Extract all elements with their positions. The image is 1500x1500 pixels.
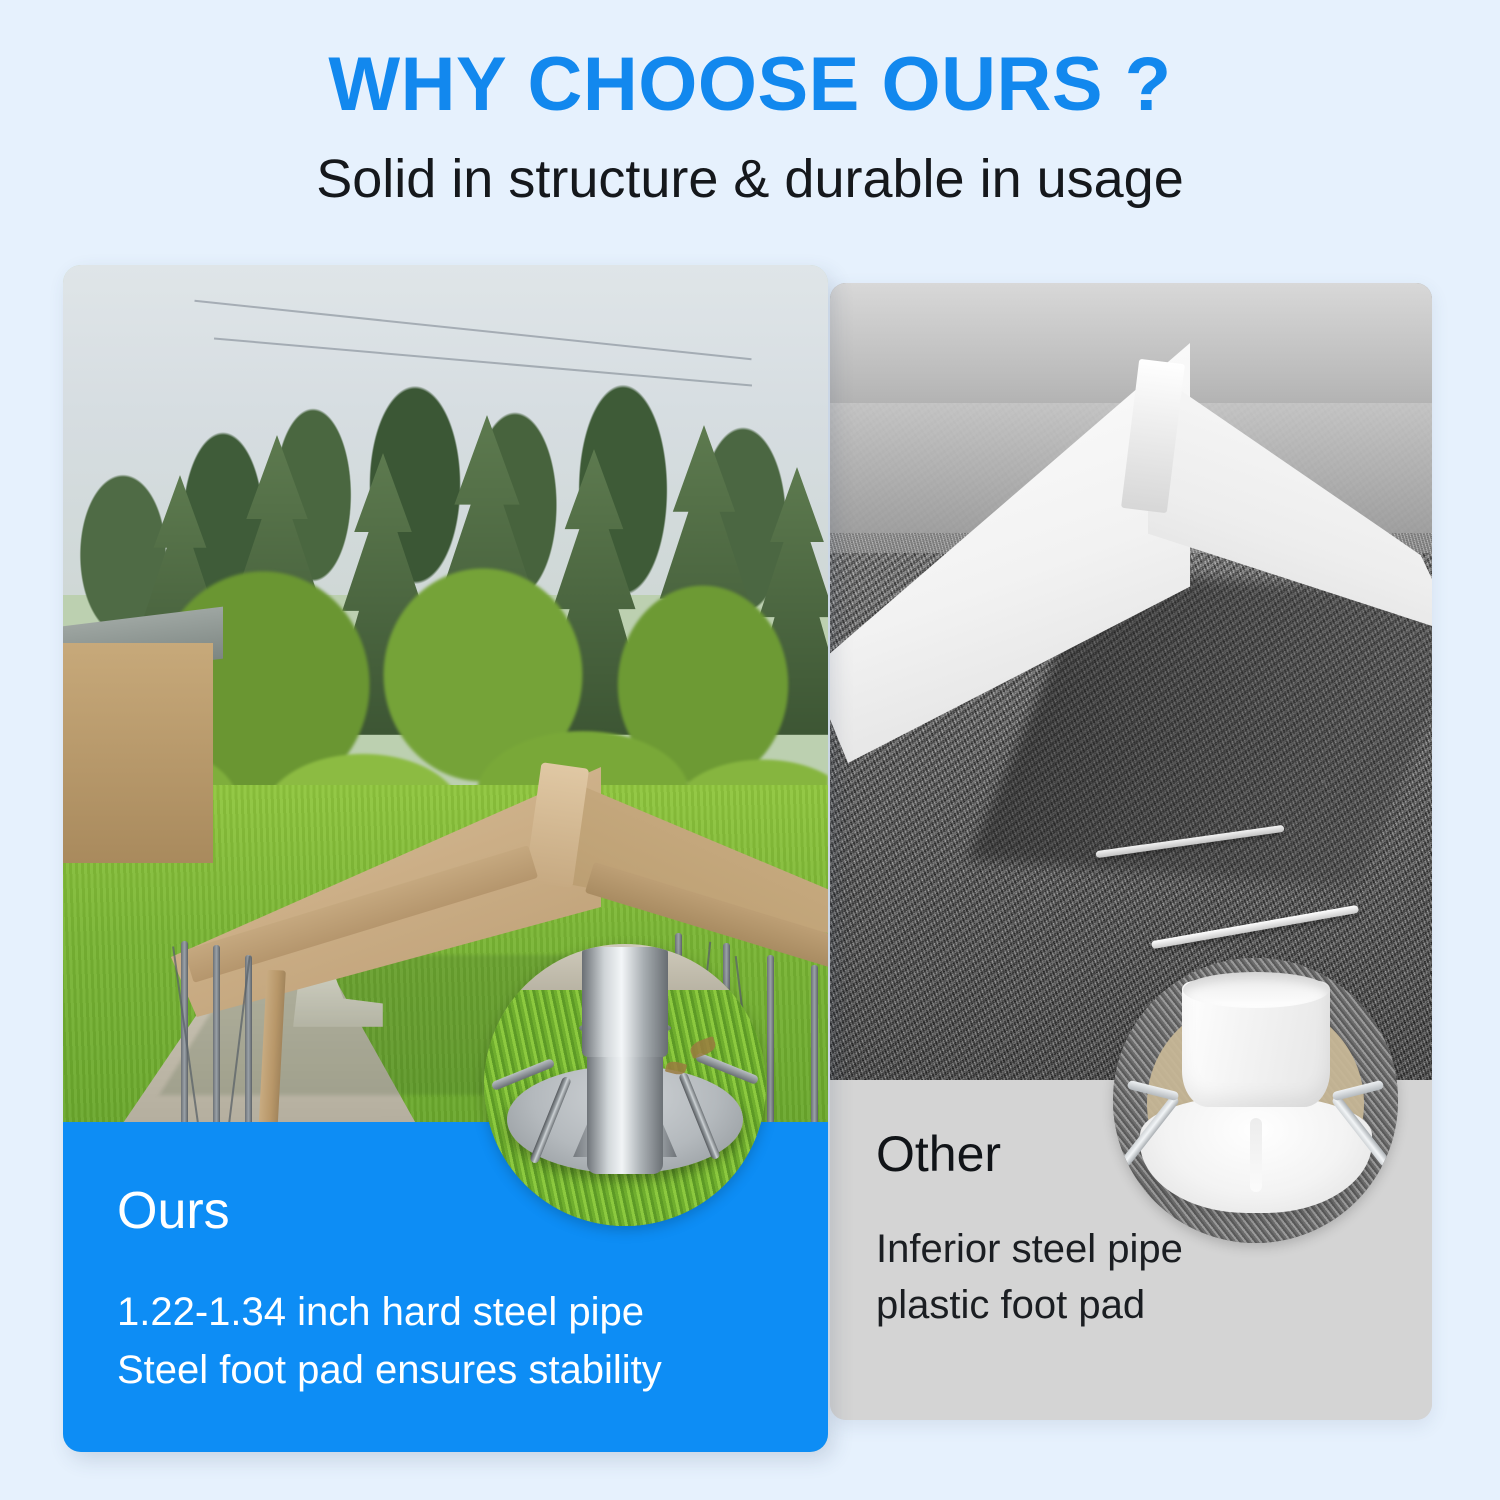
other-inset-collar-rim (1183, 972, 1329, 1008)
other-inset-plastic-rib (1250, 1118, 1262, 1192)
other-card: Other Inferior steel pipe plastic foot p… (830, 283, 1432, 1420)
ours-card: Ours 1.22-1.34 inch hard steel pipe Stee… (63, 265, 828, 1452)
comparison-stage: Other Inferior steel pipe plastic foot p… (0, 0, 1500, 1500)
ours-feature-line-2: Steel foot pad ensures stability (117, 1341, 774, 1399)
ours-features: 1.22-1.34 inch hard steel pipe Steel foo… (117, 1283, 774, 1399)
carport-steel-pole (213, 945, 220, 1122)
carport-steel-pole (811, 965, 818, 1122)
other-feature-line-2: plastic foot pad (876, 1277, 1386, 1334)
ours-footpad-inset (484, 944, 766, 1226)
other-footpad-inset (1113, 958, 1398, 1243)
ours-inset-steel-pipe-upper (582, 947, 668, 1057)
carport-steel-pole (767, 955, 774, 1122)
ours-photo-house (63, 643, 213, 863)
ours-feature-line-1: 1.22-1.34 inch hard steel pipe (117, 1283, 774, 1341)
